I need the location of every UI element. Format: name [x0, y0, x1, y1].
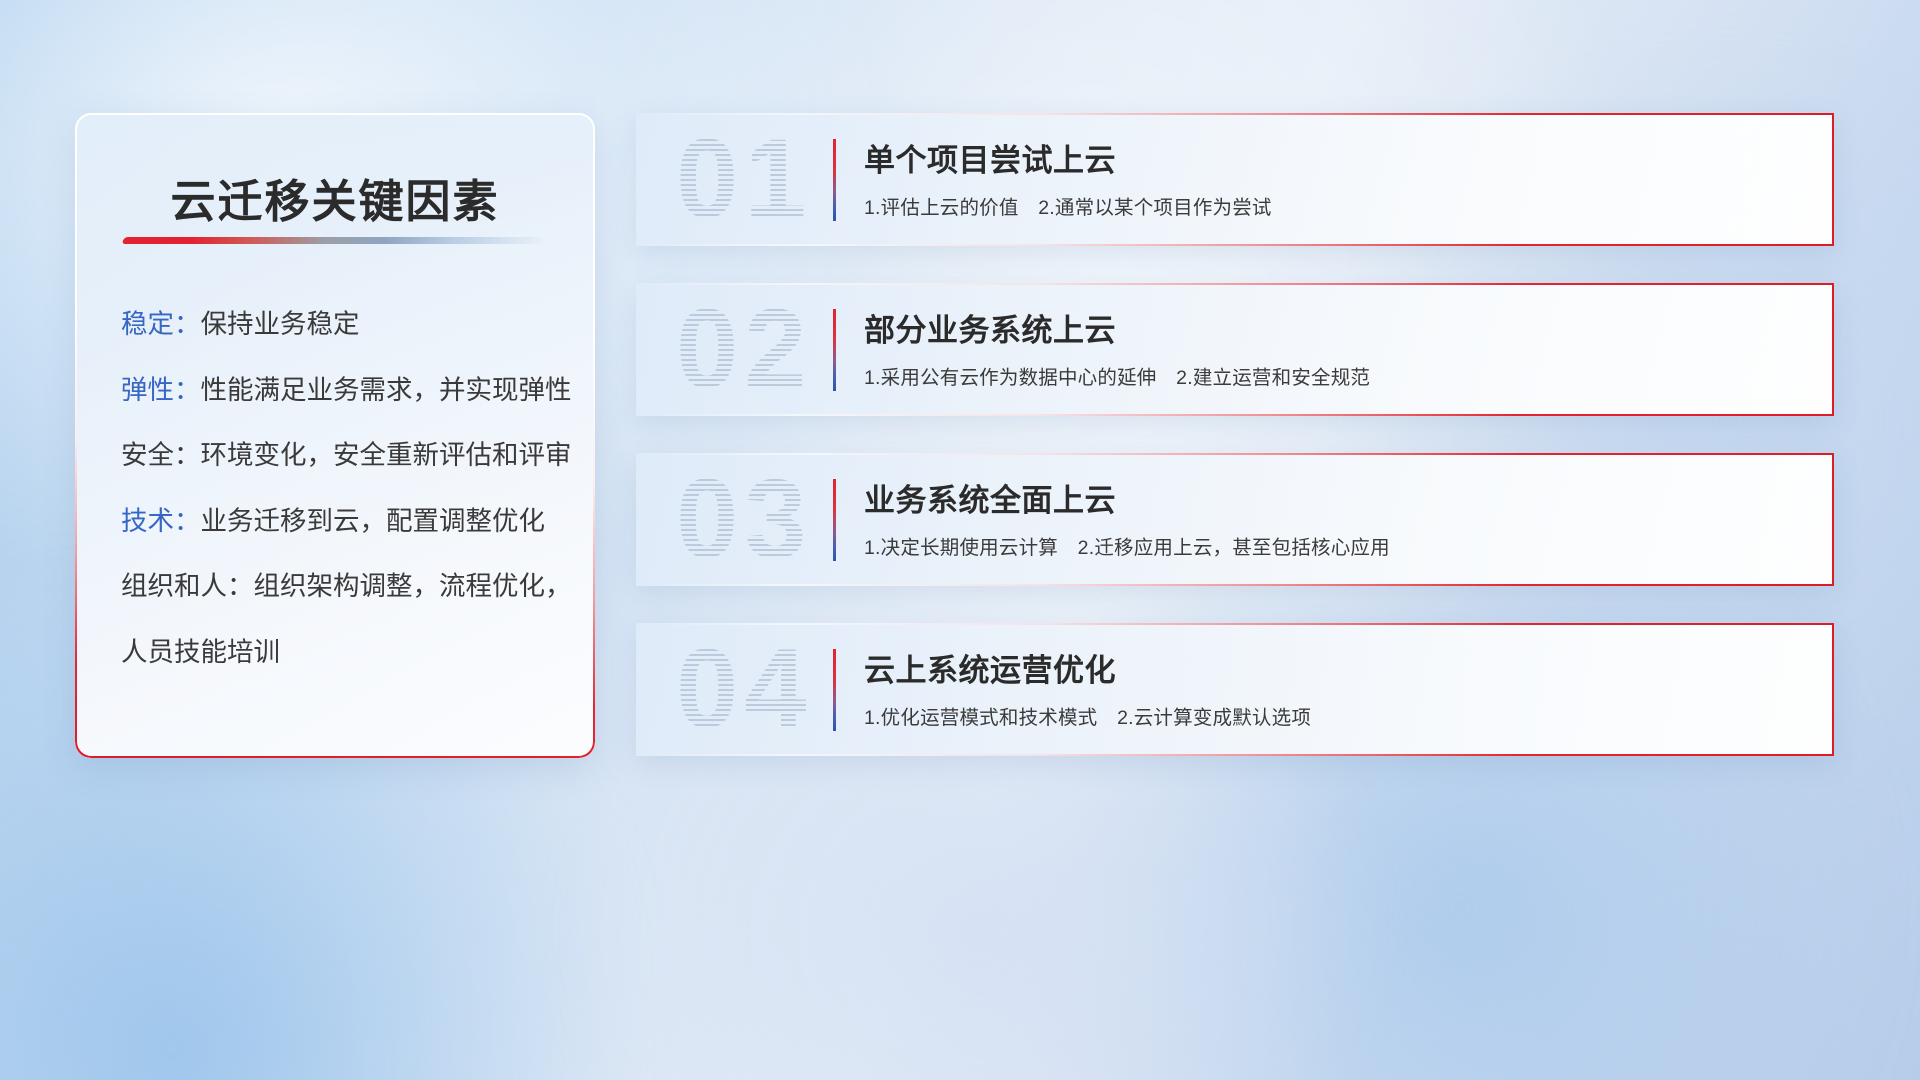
- list-item: 稳定：保持业务稳定: [121, 311, 561, 338]
- step-description: 1.决定长期使用云计算 2.迁移应用上云，甚至包括核心应用: [864, 531, 1390, 560]
- list-item: 技术：业务迁移到云，配置调整优化: [121, 508, 561, 535]
- step-card-border: [636, 283, 1834, 416]
- list-item: 人员技能培训: [121, 639, 561, 666]
- list-item: 弹性：性能满足业务需求，并实现弹性: [121, 377, 561, 404]
- step-description: 1.采用公有云作为数据中心的延伸 2.建立运营和安全规范: [864, 361, 1370, 390]
- list-item-text: 业务迁移到云，配置调整优化: [201, 506, 546, 536]
- step-accent-bar: [833, 479, 836, 561]
- step-card-02[interactable]: 02 部分业务系统上云 1.采用公有云作为数据中心的延伸 2.建立运营和安全规范: [636, 283, 1834, 416]
- step-card-01[interactable]: 01 单个项目尝试上云 1.评估上云的价值 2.通常以某个项目作为尝试: [636, 113, 1834, 246]
- list-item-text: 人员技能培训: [121, 637, 280, 667]
- key-factors-card: 云迁移关键因素 稳定：保持业务稳定 弹性：性能满足业务需求，并实现弹性 安全：环…: [75, 113, 595, 758]
- list-item-text: 环境变化，安全重新评估和评审: [201, 440, 572, 470]
- step-number-watermark: 01: [676, 113, 813, 246]
- step-card-border: [636, 453, 1834, 586]
- list-item-key: 稳定：: [121, 309, 201, 339]
- step-card-border: [636, 113, 1834, 246]
- title-divider-rule: [122, 237, 549, 244]
- list-item-text: 性能满足业务需求，并实现弹性: [201, 375, 572, 405]
- step-accent-bar: [833, 139, 836, 221]
- step-title: 单个项目尝试上云: [864, 135, 1116, 180]
- step-title: 业务系统全面上云: [864, 475, 1116, 520]
- step-card-04[interactable]: 04 云上系统运营优化 1.优化运营模式和技术模式 2.云计算变成默认选项: [636, 623, 1834, 756]
- step-description: 1.评估上云的价值 2.通常以某个项目作为尝试: [864, 191, 1272, 220]
- step-description: 1.优化运营模式和技术模式 2.云计算变成默认选项: [864, 701, 1311, 730]
- list-item-key: 安全：: [121, 440, 201, 470]
- page-title: 云迁移关键因素: [75, 165, 595, 230]
- list-item-text: 组织架构调整，流程优化，: [254, 571, 572, 601]
- list-item-key: 技术：: [121, 506, 201, 536]
- step-number-watermark: 02: [676, 283, 813, 416]
- list-item-key: 组织和人：: [121, 571, 254, 601]
- list-item-text: 保持业务稳定: [201, 309, 360, 339]
- step-title: 云上系统运营优化: [864, 645, 1116, 690]
- list-item-key: 弹性：: [121, 375, 201, 405]
- step-number-watermark: 04: [676, 623, 813, 756]
- step-card-03[interactable]: 03 业务系统全面上云 1.决定长期使用云计算 2.迁移应用上云，甚至包括核心应…: [636, 453, 1834, 586]
- step-accent-bar: [833, 309, 836, 391]
- step-accent-bar: [833, 649, 836, 731]
- list-item: 安全：环境变化，安全重新评估和评审: [121, 442, 561, 469]
- key-factors-list: 稳定：保持业务稳定 弹性：性能满足业务需求，并实现弹性 安全：环境变化，安全重新…: [121, 311, 561, 665]
- step-number-watermark: 03: [676, 453, 813, 586]
- slide-stage: 云迁移关键因素 稳定：保持业务稳定 弹性：性能满足业务需求，并实现弹性 安全：环…: [0, 0, 1920, 1080]
- step-card-border: [636, 623, 1834, 756]
- list-item: 组织和人：组织架构调整，流程优化，: [121, 573, 561, 600]
- step-title: 部分业务系统上云: [864, 305, 1116, 350]
